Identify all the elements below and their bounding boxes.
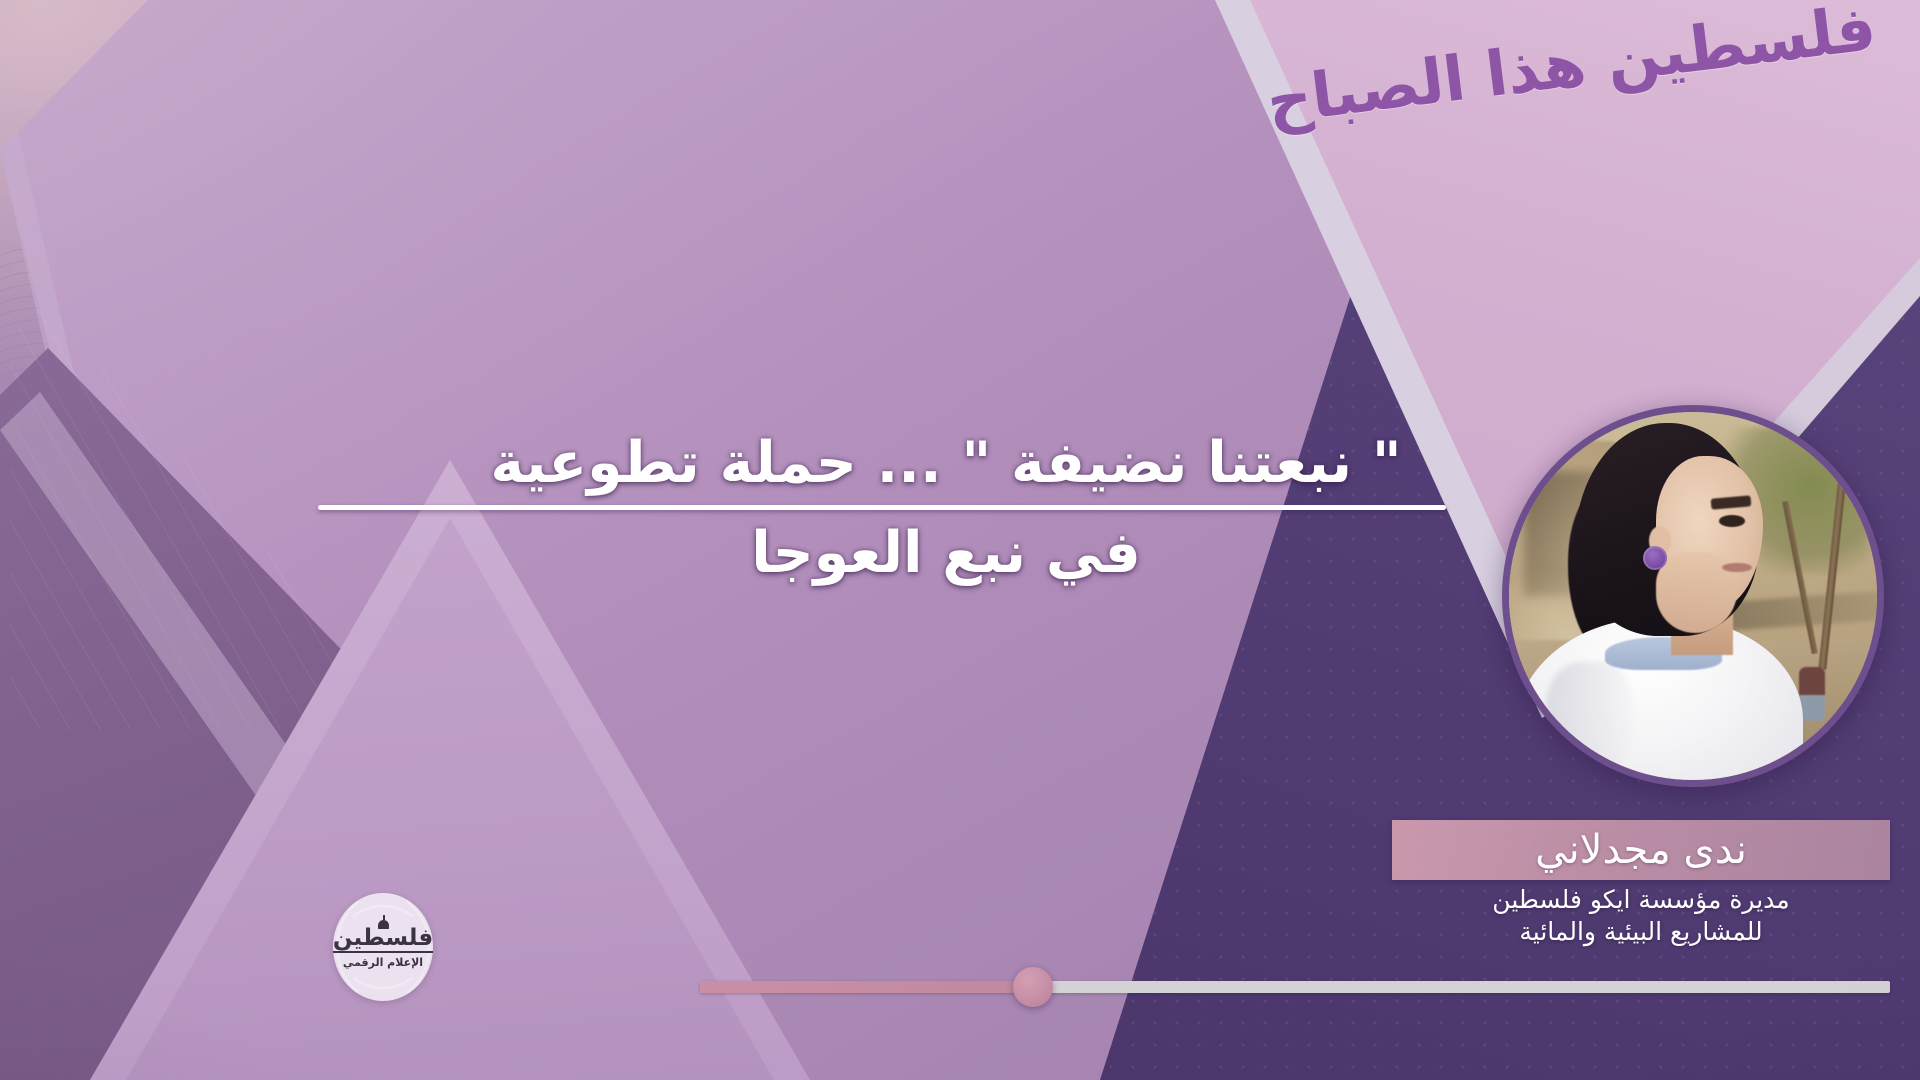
- guest-role-line-1: مديرة مؤسسة ايكو فلسطين: [1392, 884, 1890, 916]
- guest-portrait-ring: [1502, 405, 1884, 787]
- watermark-disc: فلسطين الإعلام الرقمي: [333, 893, 433, 1001]
- mosque-dome-icon: [378, 920, 389, 929]
- guest-portrait-photo: [1509, 412, 1877, 780]
- photo-background-person: [1799, 667, 1825, 721]
- channel-watermark: فلسطين الإعلام الرقمي: [324, 886, 442, 1008]
- headline-line-1: " نبعتنا نضيفة " ... حملة تطوعية: [446, 430, 1446, 497]
- watermark-subtitle: الإعلام الرقمي: [343, 957, 423, 968]
- photo-eye: [1719, 515, 1745, 527]
- headline-line-2: في نبع العوجا: [446, 520, 1446, 587]
- guest-name-banner: ندى مجدلاني: [1392, 820, 1890, 880]
- progress-fill: [700, 981, 1033, 993]
- photo-fabric-fold: [1546, 662, 1634, 772]
- headline-block: " نبعتنا نضيفة " ... حملة تطوعية في نبع …: [446, 430, 1446, 588]
- guest-role-line-2: للمشاريع البيئية والمائية: [1392, 916, 1890, 948]
- guest-name: ندى مجدلاني: [1535, 827, 1747, 873]
- headline-underline: [318, 505, 1446, 510]
- guest-role: مديرة مؤسسة ايكو فلسطين للمشاريع البيئية…: [1392, 884, 1890, 948]
- progress-handle[interactable]: [1013, 967, 1053, 1007]
- watermark-title: فلسطين: [333, 927, 433, 953]
- video-progress-bar[interactable]: [700, 981, 1890, 993]
- broadcast-lower-third-frame: فلسطين هذا الصباح " نبعتنا نضيفة " ... ح…: [0, 0, 1920, 1080]
